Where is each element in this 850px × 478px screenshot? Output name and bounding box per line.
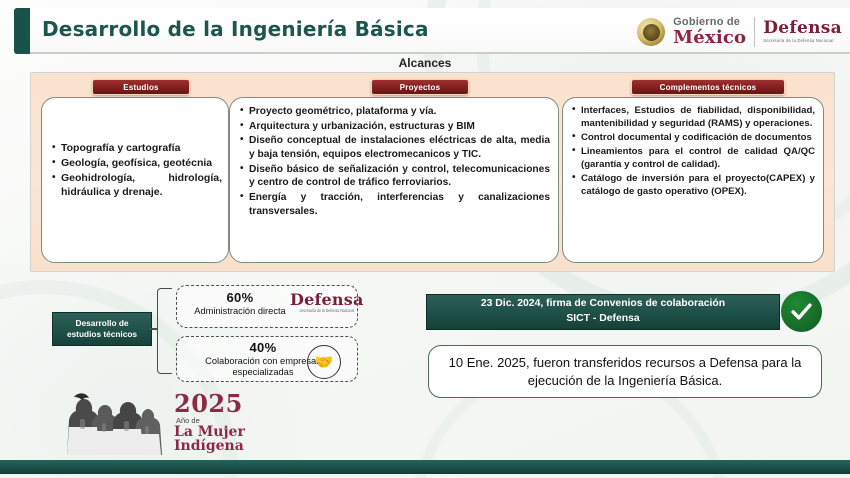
group-label-line-2: estudios técnicos (67, 329, 137, 340)
campaign-line-2: La Mujer (174, 425, 245, 439)
agreement-banner: 23 Dic. 2024, firma de Convenios de cola… (426, 294, 780, 330)
list-item: Interfaces, Estudios de fiabilidad, disp… (572, 104, 815, 130)
list-item: Arquitectura y urbanización, estructuras… (240, 120, 550, 134)
split-bracket (157, 288, 172, 374)
defensa-title: Defensa (763, 20, 842, 37)
brand-separator (754, 17, 755, 47)
split-bracket-stem (149, 328, 158, 330)
defensa-subtitle: Secretaría de la Defensa Nacional (763, 39, 842, 44)
gobierno-de-mexico-wordmark: Gobierno de México (673, 17, 746, 47)
list-item: Geohidrología, hidrología, hidráulica y … (52, 172, 228, 200)
header-accent-bar (14, 8, 30, 54)
check-circle-icon (781, 291, 822, 332)
section-subtitle: Alcances (0, 56, 850, 70)
header-divider (30, 52, 850, 54)
list-item: Catálogo de inversión para el proyecto(C… (572, 172, 815, 198)
complementos-list: Interfaces, Estudios de fiabilidad, disp… (572, 104, 815, 198)
estudios-list: Topografía y cartografía Geología, geofí… (52, 142, 228, 199)
list-item: Energía y tracción, interferencias y can… (240, 191, 550, 218)
list-item: Control documental y codificación de doc… (572, 131, 815, 144)
list-item: Geología, geofísica, geotécnia (52, 157, 228, 171)
defensa-wordmark-icon: Defensa Secretaría de la Defensa Naciona… (290, 292, 364, 314)
list-item: Lineamientos para el control de calidad … (572, 145, 815, 171)
agreement-banner-line-2: SICT - Defensa (566, 312, 639, 327)
indigenous-women-illustration-icon (58, 389, 168, 455)
handshake-icon: 🤝 (307, 345, 341, 379)
list-item: Diseño conceptual de instalaciones eléct… (240, 134, 550, 161)
slide-header: Desarrollo de la Ingeniería Básica Gobie… (0, 8, 850, 54)
brand-line-2: México (673, 29, 746, 47)
transfer-note-box: 10 Ene. 2025, fueron transferidos recurs… (428, 345, 822, 398)
column-header-proyectos: Proyectos (371, 79, 469, 95)
column-header-complementos: Complementos técnicos (631, 79, 785, 95)
defensa-mini-title: Defensa (290, 292, 364, 308)
scope-card-proyectos: Proyecto geométrico, plataforma y vía. A… (229, 97, 559, 263)
campaign-text: 2025 Año de La Mujer Indígena (174, 392, 245, 456)
mexican-eagle-seal-icon (637, 18, 665, 46)
group-label-line-1: Desarrollo de (75, 318, 128, 329)
campaign-year: 2025 (174, 392, 245, 416)
split-60-label: Administración directa (178, 306, 302, 317)
defensa-mini-subtitle: Secretaría de la Defensa Nacional (290, 310, 364, 314)
page-title: Desarrollo de la Ingeniería Básica (42, 17, 429, 41)
split-60-percent: 60% (178, 290, 302, 305)
slide-canvas: Desarrollo de la Ingeniería Básica Gobie… (0, 0, 850, 478)
list-item: Diseño básico de señalización y control,… (240, 163, 550, 190)
brand-lockup: Gobierno de México Defensa Secretaría de… (637, 13, 842, 51)
campaign-line-1: Año de (176, 417, 245, 425)
campaign-line-3: Indígena (174, 439, 245, 453)
proyectos-list: Proyecto geométrico, plataforma y vía. A… (240, 105, 550, 218)
agreement-banner-line-1: 23 Dic. 2024, firma de Convenios de cola… (481, 297, 725, 312)
scope-card-complementos: Interfaces, Estudios de fiabilidad, disp… (562, 97, 824, 263)
campaign-logo: 2025 Año de La Mujer Indígena (58, 383, 308, 455)
list-item: Topografía y cartografía (52, 142, 228, 156)
list-item: Proyecto geométrico, plataforma y vía. (240, 105, 550, 119)
scope-card-estudios: Topografía y cartografía Geología, geofí… (41, 97, 229, 263)
group-label-box: Desarrollo de estudios técnicos (52, 312, 152, 346)
split-60-text: 60% Administración directa (178, 290, 302, 317)
scope-panel: Estudios Proyectos Complementos técnicos… (30, 72, 835, 272)
defensa-wordmark: Defensa Secretaría de la Defensa Naciona… (763, 20, 842, 43)
column-header-estudios: Estudios (92, 79, 190, 95)
footer-bar (0, 460, 850, 474)
